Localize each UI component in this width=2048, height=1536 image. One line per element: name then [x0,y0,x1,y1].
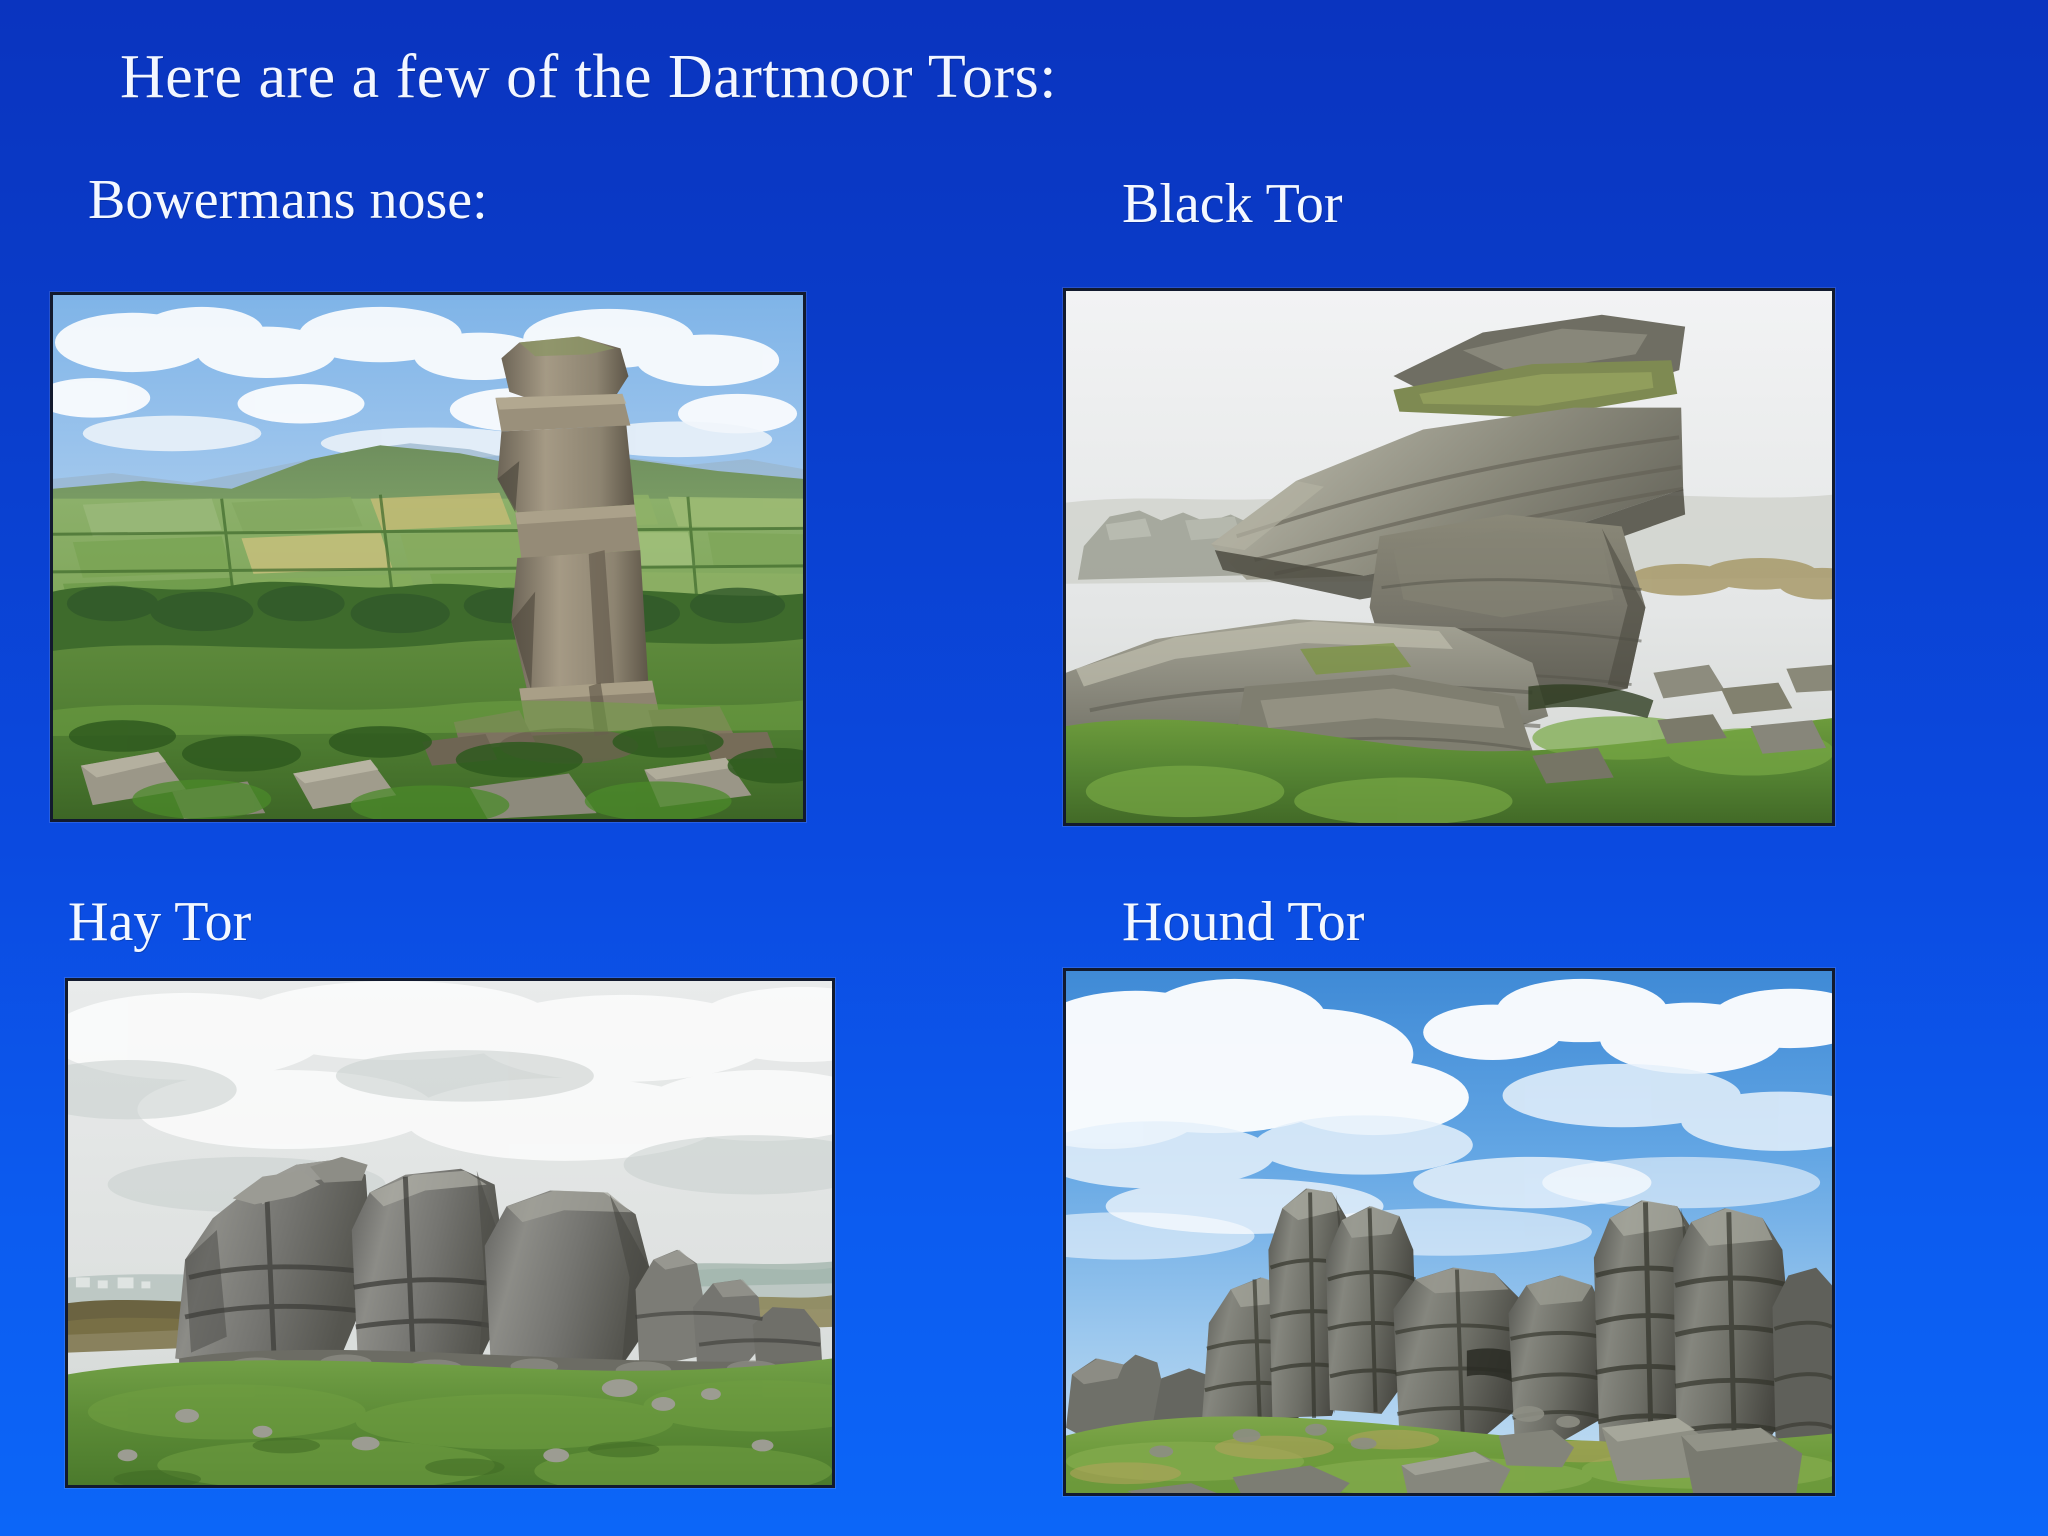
tor-label-bowermans: Bowermans nose: [88,168,488,232]
page-title: Here are a few of the Dartmoor Tors: [120,42,1057,113]
slide-canvas: Here are a few of the Dartmoor Tors: Bow… [0,0,2048,1536]
black-tor-illustration [1066,291,1832,823]
tor-label-hound: Hound Tor [1122,890,1364,954]
tor-label-black: Black Tor [1122,172,1343,236]
black-tor-photo [1063,288,1835,826]
hay-tor-photo [65,978,835,1488]
bowermans-nose-photo [50,292,806,822]
tor-label-hay: Hay Tor [68,890,251,954]
bowermans-nose-illustration [53,295,803,819]
hay-tor-illustration [68,981,832,1485]
hound-tor-photo [1063,968,1835,1496]
hound-tor-illustration [1066,971,1832,1493]
